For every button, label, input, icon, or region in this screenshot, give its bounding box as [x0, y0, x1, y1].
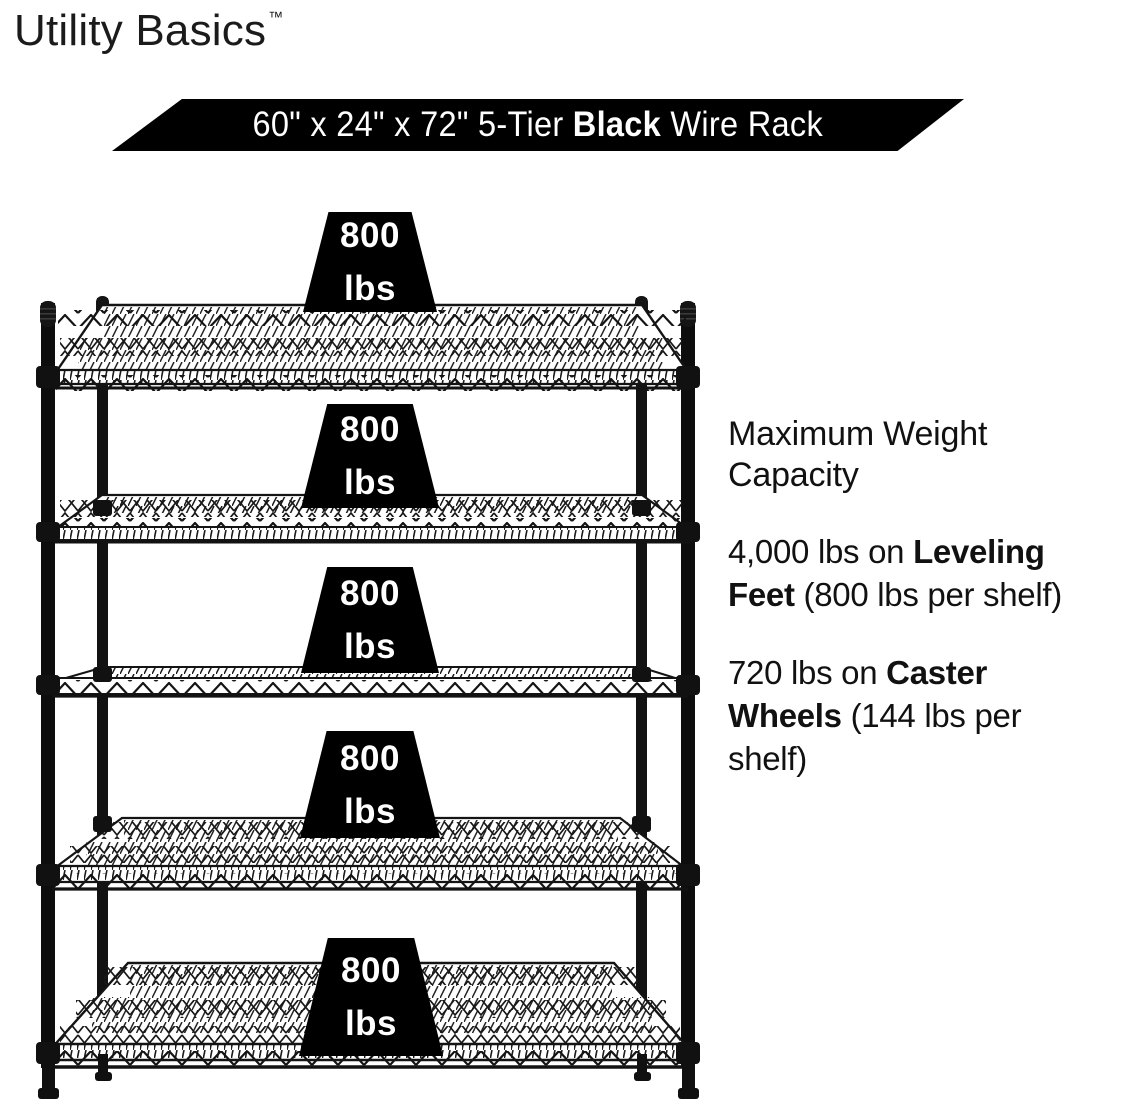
caster-total: 720 lbs [728, 654, 832, 691]
badge-unit: lbs [344, 270, 396, 307]
leveling-total: 4,000 lbs [728, 533, 859, 570]
badge-number: 800 [340, 217, 400, 254]
banner-tier: 5-Tier [478, 105, 563, 144]
leveling-per-shelf: (800 lbs per shelf) [795, 576, 1062, 613]
banner-dimensions: 60" x 24" x 72" [253, 105, 469, 144]
badge-number: 800 [340, 575, 400, 612]
brand-name: Utility Basics [14, 6, 266, 56]
brand-logo: Utility Basics ™ [14, 6, 284, 56]
banner-color-word: Black [573, 105, 661, 144]
title-banner: 60" x 24" x 72" 5-Tier Black Wire Rack [112, 99, 964, 151]
badge-number: 800 [340, 411, 400, 448]
capacity-caster-wheels: 720 lbs on Caster Wheels (144 lbs per sh… [728, 651, 1108, 780]
leveling-on: on [859, 533, 913, 570]
capacity-copy: Maximum Weight Capacity 4,000 lbs on Lev… [728, 414, 1108, 815]
badge-number: 800 [340, 740, 400, 777]
shelf-1 [54, 305, 690, 391]
caster-on: on [832, 654, 886, 691]
badge-unit: lbs [345, 1005, 397, 1042]
trademark-symbol: ™ [268, 10, 284, 25]
product-infographic: Utility Basics ™ 60" x 24" x 72" 5-Tier … [0, 0, 1126, 1099]
banner-title: 60" x 24" x 72" 5-Tier Black Wire Rack [253, 107, 824, 143]
badge-number: 800 [341, 952, 401, 989]
badge-unit: lbs [344, 793, 396, 830]
capacity-heading: Maximum Weight Capacity [728, 414, 1108, 496]
badge-unit: lbs [344, 464, 396, 501]
badge-unit: lbs [344, 628, 396, 665]
banner-product: Wire Rack [671, 105, 824, 144]
capacity-leveling-feet: 4,000 lbs on Leveling Feet (800 lbs per … [728, 530, 1108, 616]
